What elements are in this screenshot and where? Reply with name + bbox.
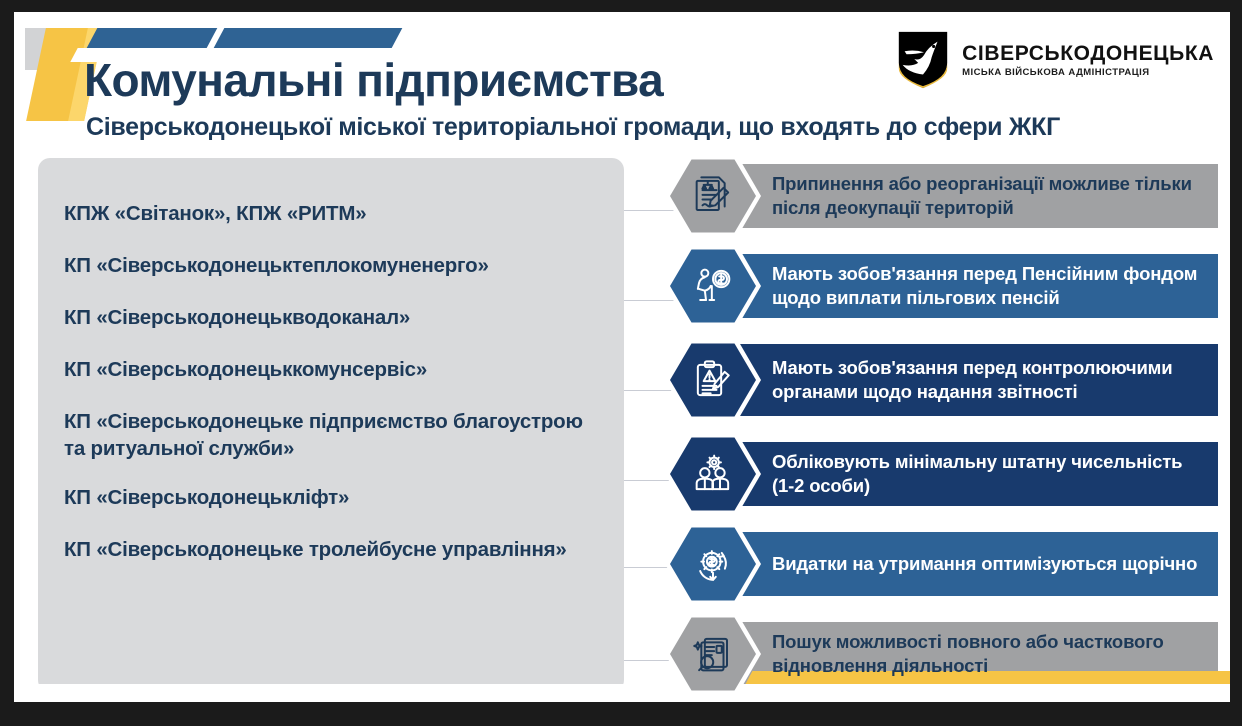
list-item: КП «Сіверськодонецькліфт» xyxy=(64,484,598,511)
fact-text: Мають зобов'язання перед Пенсійним фондо… xyxy=(756,262,1218,309)
fact-row: Мають зобов'язання перед Пенсійним фондо… xyxy=(670,248,1218,324)
connector-line xyxy=(624,210,676,211)
fact-text: Обліковують мінімальну штатну чисельніст… xyxy=(756,450,1218,497)
list-item: КП «Сіверськодонецьке підприємство благо… xyxy=(64,408,598,462)
list-item: КП «Сіверськодонецьккомунсервіс» xyxy=(64,356,598,383)
logo-subtitle: МІСЬКА ВІЙСЬКОВА АДМІНІСТРАЦІЯ xyxy=(962,68,1214,78)
fact-text: Мають зобов'язання перед контролюючими о… xyxy=(756,356,1218,403)
connector-line xyxy=(624,480,676,481)
organization-logo: СІВЕРСЬКОДОНЕЦЬКА МІСЬКА ВІЙСЬКОВА АДМІН… xyxy=(894,30,1214,90)
fact-icon-hexagon xyxy=(670,436,756,512)
list-item: КПЖ «Світанок», КПЖ «РИТМ» xyxy=(64,200,598,227)
fact-text: Видатки на утримання оптимізуються щоріч… xyxy=(756,552,1211,576)
decor-blue-band-two xyxy=(214,28,403,48)
page-subtitle: Сіверськодонецької міської територіально… xyxy=(86,113,1060,142)
screenshot-frame: СІВЕРСЬКОДОНЕЦЬКА МІСЬКА ВІЙСЬКОВА АДМІН… xyxy=(0,0,1242,726)
connector-line xyxy=(624,300,676,301)
list-item: КП «Сіверськодонецьктеплокомуненерго» xyxy=(64,252,598,279)
fact-text: Пошук можливості повного або часткового … xyxy=(756,630,1218,677)
fact-icon-hexagon xyxy=(670,248,756,324)
decor-blue-band-one xyxy=(87,28,218,48)
fact-row: Припинення або реорганізації можливе тіл… xyxy=(670,158,1218,234)
list-item: КП «Сіверськодонецькводоканал» xyxy=(64,304,598,331)
connector-line xyxy=(624,390,676,391)
companies-panel: КПЖ «Світанок», КПЖ «РИТМ» КП «Сіверсько… xyxy=(38,158,624,692)
list-item: КП «Сіверськодонецьке тролейбусне управл… xyxy=(64,536,598,563)
fact-text: Припинення або реорганізації можливе тіл… xyxy=(756,172,1218,219)
connector-line xyxy=(624,660,676,661)
fact-icon-hexagon xyxy=(670,526,756,602)
fact-row: Обліковують мінімальну штатну чисельніст… xyxy=(670,436,1218,512)
page-title: Комунальні підприємства xyxy=(84,53,663,107)
facts-list: Припинення або реорганізації можливе тіл… xyxy=(670,158,1218,702)
logo-text-block: СІВЕРСЬКОДОНЕЦЬКА МІСЬКА ВІЙСЬКОВА АДМІН… xyxy=(962,43,1214,78)
falcon-shield-emblem-icon xyxy=(894,30,952,90)
fact-row: Видатки на утримання оптимізуються щоріч… xyxy=(670,526,1218,602)
fact-icon-hexagon xyxy=(670,616,756,692)
decor-bottom-white-strip xyxy=(14,684,1230,702)
slide-canvas: СІВЕРСЬКОДОНЕЦЬКА МІСЬКА ВІЙСЬКОВА АДМІН… xyxy=(14,12,1230,702)
fact-icon-hexagon xyxy=(670,342,756,418)
logo-title: СІВЕРСЬКОДОНЕЦЬКА xyxy=(962,43,1214,64)
fact-icon-hexagon xyxy=(670,158,756,234)
fact-row: Мають зобов'язання перед контролюючими о… xyxy=(670,338,1218,422)
